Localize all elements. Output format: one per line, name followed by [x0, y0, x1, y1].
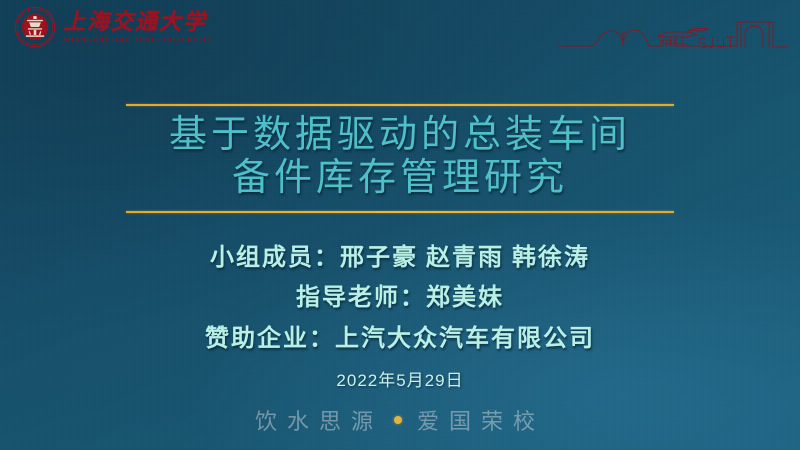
credits-block: 小组成员：邢子豪 赵青雨 韩徐涛 指导老师：郑美妹 赞助企业：上汽大众汽车有限公… [0, 238, 800, 391]
sjtu-seal-icon [14, 6, 56, 48]
title-line-1: 基于数据驱动的总装车间 [0, 114, 800, 157]
advisor-line: 指导老师：郑美妹 [0, 278, 800, 318]
motto-left: 饮水思源 [255, 404, 383, 436]
logo-name-cn: 上海交通大学 [63, 11, 210, 33]
university-motto: 饮水思源 爱国荣校 [0, 404, 800, 436]
campus-skyline-icon [557, 4, 792, 64]
logo-name-en: SHANGHAI JIAO TONG UNIVERSITY [63, 36, 213, 43]
university-logo: 上海交通大学 SHANGHAI JIAO TONG UNIVERSITY [14, 6, 210, 48]
motto-right: 爱国荣校 [417, 404, 545, 436]
title-line-2: 备件库存管理研究 [0, 157, 800, 200]
presentation-title: 基于数据驱动的总装车间 备件库存管理研究 [0, 106, 800, 203]
title-block: 基于数据驱动的总装车间 备件库存管理研究 [0, 104, 800, 213]
title-slide: 上海交通大学 SHANGHAI JIAO TONG UNIVERSITY [0, 0, 800, 450]
sponsor-line: 赞助企业：上汽大众汽车有限公司 [0, 319, 800, 359]
motto-separator-dot [394, 416, 402, 424]
title-divider-bottom [126, 211, 674, 213]
presentation-date: 2022年5月29日 [0, 366, 800, 391]
logo-wordmark: 上海交通大学 SHANGHAI JIAO TONG UNIVERSITY [63, 11, 210, 43]
team-members-line: 小组成员：邢子豪 赵青雨 韩徐涛 [0, 238, 800, 278]
